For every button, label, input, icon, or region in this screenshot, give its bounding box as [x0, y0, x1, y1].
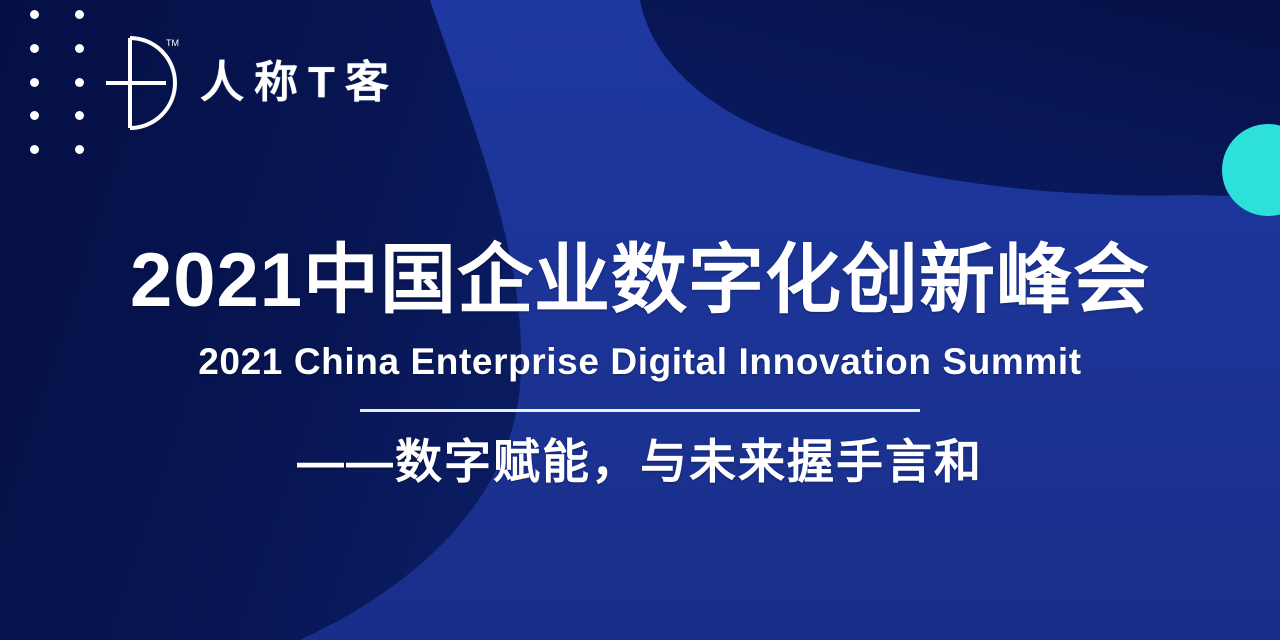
- grid-dot: [30, 111, 39, 120]
- grid-dot: [30, 10, 39, 19]
- t-ke-d-logo-icon: TM: [106, 28, 182, 138]
- grid-dot: [75, 10, 84, 19]
- grid-dot: [30, 145, 39, 154]
- summit-banner: TM 人称T客 2021中国企业数字化创新峰会 2021 China Enter…: [0, 0, 1280, 640]
- page-title-english: 2021 China Enterprise Digital Innovation…: [0, 342, 1280, 383]
- grid-dot: [75, 111, 84, 120]
- divider-rule: [360, 409, 920, 412]
- grid-dot: [30, 44, 39, 53]
- tagline-text: ——数字赋能，与未来握手言和: [0, 436, 1280, 488]
- grid-dot: [75, 145, 84, 154]
- grid-dot: [30, 78, 39, 87]
- page-title-chinese: 2021中国企业数字化创新峰会: [0, 240, 1280, 322]
- brand-lockup: TM 人称T客: [106, 25, 399, 140]
- headline-block: 2021中国企业数字化创新峰会 2021 China Enterprise Di…: [0, 240, 1280, 487]
- grid-dot: [75, 78, 84, 87]
- grid-dot: [75, 44, 84, 53]
- brand-name: 人称T客: [200, 61, 399, 105]
- trademark-symbol: TM: [166, 38, 179, 48]
- dot-grid-icon: [30, 10, 90, 156]
